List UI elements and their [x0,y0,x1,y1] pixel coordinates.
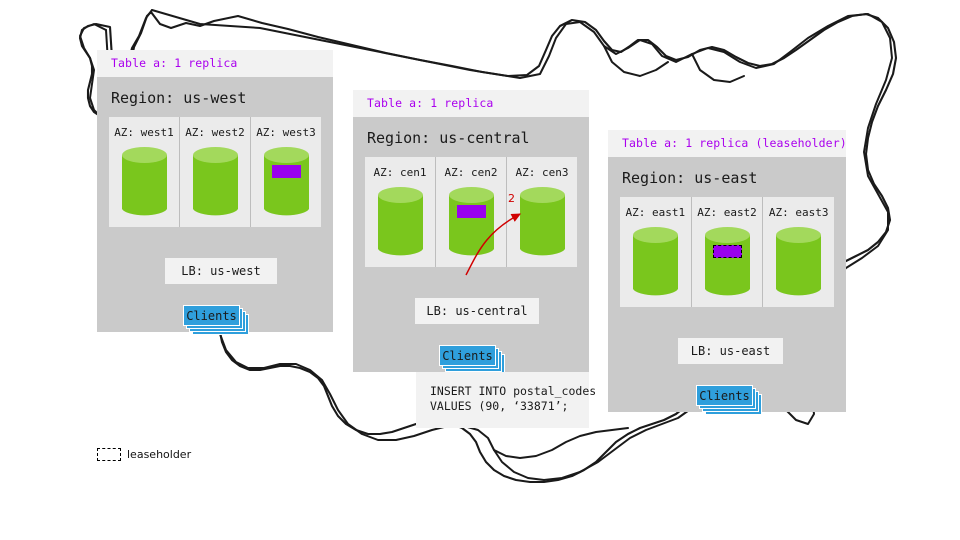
region-body-us-east: Region: us-east AZ: east1 AZ: east2 [608,157,846,412]
replica-cen2[interactable] [457,205,486,218]
table-band-us-west: Table a: 1 replica [97,50,333,77]
node-cylinder-east2[interactable] [704,226,751,298]
az-label-west1: AZ: west1 [114,117,174,146]
region-panel-us-west: Table a: 1 replica Region: us-west AZ: w… [97,50,333,332]
node-cylinder-cen3[interactable] [519,186,566,258]
az-label-cen2: AZ: cen2 [445,157,498,186]
node-cylinder-west3[interactable] [263,146,310,218]
az-cell-west3[interactable]: AZ: west3 [250,117,321,227]
az-cell-west1[interactable]: AZ: west1 [109,117,179,227]
node-cylinder-cen2[interactable] [448,186,495,258]
region-title-us-west: Region: us-west [97,77,333,117]
table-band-us-central: Table a: 1 replica [353,90,589,117]
node-cylinder-cen1[interactable] [377,186,424,258]
az-label-cen1: AZ: cen1 [374,157,427,186]
az-label-cen3: AZ: cen3 [516,157,569,186]
az-label-west2: AZ: west2 [185,117,245,146]
az-cell-west2[interactable]: AZ: west2 [179,117,250,227]
node-cylinder-west1[interactable] [121,146,168,218]
az-row-us-central: AZ: cen1 AZ: cen2 [365,157,577,267]
az-label-east1: AZ: east1 [626,197,686,226]
table-band-us-east: Table a: 1 replica (leaseholder) [608,130,846,157]
sql-note-us-central: INSERT INTO postal_codes VALUES (90, ‘33… [416,372,589,428]
region-panel-us-east: Table a: 1 replica (leaseholder) Region:… [608,130,846,412]
az-row-us-west: AZ: west1 AZ: west2 [109,117,321,227]
node-cylinder-east3[interactable] [775,226,822,298]
clients-label-us-central[interactable]: Clients [439,345,496,366]
lb-box-us-east[interactable]: LB: us-east [678,338,783,364]
az-label-west3: AZ: west3 [256,117,316,146]
arrow-label-2: 2 [508,192,515,205]
az-cell-east1[interactable]: AZ: east1 [620,197,691,307]
region-panel-us-central: Table a: 1 replica Region: us-central AZ… [353,90,589,372]
lb-box-us-central[interactable]: LB: us-central [415,298,539,324]
node-cylinder-west2[interactable] [192,146,239,218]
clients-us-east[interactable]: Clients [696,385,766,419]
lb-box-us-west[interactable]: LB: us-west [165,258,277,284]
region-title-us-east: Region: us-east [608,157,846,197]
diagram-canvas: Table a: 1 replica Region: us-west AZ: w… [0,0,960,540]
leaseholder-swatch-icon [97,448,121,461]
legend-label: leaseholder [127,448,191,461]
region-title-us-central: Region: us-central [353,117,589,157]
az-label-east2: AZ: east2 [697,197,757,226]
az-row-us-east: AZ: east1 AZ: east2 [620,197,834,307]
az-cell-cen2[interactable]: AZ: cen2 [435,157,506,267]
az-cell-east3[interactable]: AZ: east3 [762,197,834,307]
region-body-us-central: Region: us-central AZ: cen1 AZ: cen2 [353,117,589,372]
node-cylinder-east1[interactable] [632,226,679,298]
clients-us-west[interactable]: Clients [183,305,253,339]
region-body-us-west: Region: us-west AZ: west1 AZ: west2 [97,77,333,332]
az-cell-cen1[interactable]: AZ: cen1 [365,157,435,267]
az-cell-east2[interactable]: AZ: east2 [691,197,763,307]
az-cell-cen3[interactable]: AZ: cen3 [506,157,577,267]
replica-west3[interactable] [272,165,301,178]
legend-leaseholder: leaseholder [97,448,191,461]
replica-east2-leaseholder[interactable] [713,245,742,258]
az-label-east3: AZ: east3 [769,197,829,226]
clients-label-us-east[interactable]: Clients [696,385,753,406]
clients-label-us-west[interactable]: Clients [183,305,240,326]
